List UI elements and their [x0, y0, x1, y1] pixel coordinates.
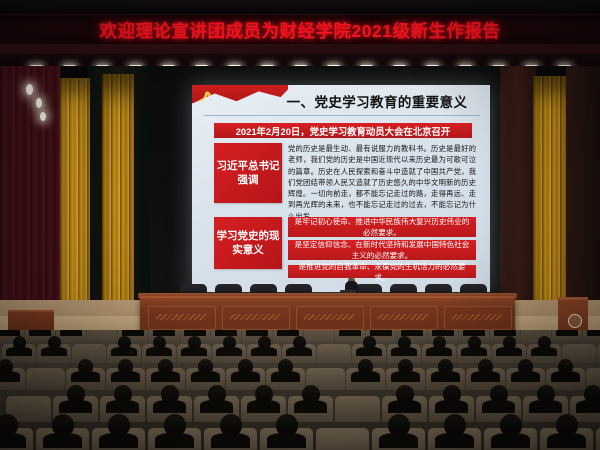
audience-member-shoulders [511, 371, 540, 382]
spotlight-icon [40, 112, 46, 121]
audience-member-shoulders [111, 371, 140, 382]
audience-seat [335, 396, 380, 422]
slide-date-bar: 2021年2月20日，党史学习教育动员大会在北京召开 [214, 123, 472, 138]
audience-member-shoulders [247, 400, 280, 413]
audience-member-shoulders [379, 433, 418, 448]
audience-member-shoulders [432, 330, 454, 336]
audience-member-shoulders [391, 347, 416, 357]
audience-member-shoulders [271, 371, 300, 382]
audience-seat [26, 368, 65, 390]
audience-member-shoulders [106, 400, 139, 413]
audience-member-shoulders [556, 330, 578, 336]
audience-member-shoulders [286, 347, 311, 357]
audience-member-shoulders [435, 433, 474, 448]
audience-member-shoulders [6, 347, 31, 357]
audience-member-shoulders [370, 330, 392, 336]
slide-title: 一、党史学习教育的重要意义 [268, 88, 486, 113]
table-carving [452, 314, 502, 320]
ceiling [0, 0, 600, 14]
led-banner: 欢迎理论宣讲团成员为财经学院2021级新生作报告 [0, 14, 600, 46]
audience-member-shoulders [191, 371, 220, 382]
table-carving [230, 314, 280, 320]
audience-member-shoulders [587, 330, 600, 336]
audience-member-shoulders [251, 347, 276, 357]
curtain-red-left [0, 66, 60, 316]
table-carving [378, 314, 428, 320]
audience-member-shoulders [356, 347, 381, 357]
wall-right [500, 66, 536, 316]
table-carving [156, 314, 206, 320]
audience-member-shoulders [60, 330, 82, 336]
audience-member-shoulders [294, 400, 327, 413]
audience-member-shoulders [461, 347, 486, 357]
wall-far-right [566, 66, 600, 316]
audience-seat [596, 428, 600, 450]
audience-member-shoulders [494, 330, 516, 336]
audience-member-shoulders [471, 371, 500, 382]
led-banner-text: 欢迎理论宣讲团成员为财经学院2021级新生作报告 [100, 18, 501, 43]
curtain-gold-left [60, 78, 90, 316]
curtain-gold-middle [102, 74, 134, 316]
audience-member-shoulders [146, 347, 171, 357]
audience-seat [316, 428, 369, 450]
audience-member-shoulders [351, 371, 380, 382]
audience-member-shoulders [388, 400, 421, 413]
curtain-gold-right [533, 76, 567, 316]
audience-member-shoulders [215, 330, 237, 336]
audience-member-shoulders [200, 400, 233, 413]
audience-member-shoulders [71, 371, 100, 382]
wall-sheen [0, 44, 600, 54]
audience-seat [304, 330, 334, 342]
audience-seating [0, 330, 600, 450]
audience-member-shoulders [59, 400, 92, 413]
audience-member-shoulders [0, 433, 26, 448]
audience-seat [87, 330, 117, 342]
audience-member-shoulders [339, 330, 361, 336]
table-carving [304, 314, 354, 320]
auditorium-photo: 欢迎理论宣讲团成员为财经学院2021级新生作报告 一、党史学习教育的重要意义 2… [0, 0, 600, 450]
audience-member-shoulders [547, 433, 586, 448]
audience-member-shoulders [211, 433, 250, 448]
section-bullet-1: 是牢记初心使命、推进中华民族伟大复兴历史伟业的必然要求。 [288, 217, 476, 237]
audience-member-shoulders [496, 347, 521, 357]
section-label-2: 学习党史的现实意义 [214, 217, 282, 269]
audience-member-shoulders [277, 330, 299, 336]
audience-member-shoulders [426, 347, 451, 357]
audience-seat [317, 344, 351, 363]
section-bullet-3: 是推进党的自我革命、永葆党的生机活力的必然要求。 [288, 265, 476, 278]
audience-member-shoulders [29, 330, 51, 336]
section-label-1: 习近平总书记强调 [214, 143, 282, 203]
audience-member-shoulders [482, 400, 515, 413]
audience-member-shoulders [531, 347, 556, 357]
audience-member-shoulders [155, 433, 194, 448]
audience-member-shoulders [435, 400, 468, 413]
audience-member-shoulders [551, 371, 580, 382]
podium-emblem-icon [568, 314, 582, 328]
audience-member-shoulders [153, 400, 186, 413]
audience-member-shoulders [111, 347, 136, 357]
audience-member-shoulders [41, 347, 66, 357]
audience-member-shoulders [0, 371, 20, 382]
audience-member-shoulders [216, 347, 241, 357]
title-divider [204, 115, 480, 116]
spotlight-icon [36, 98, 42, 108]
audience-member-shoulders [151, 371, 180, 382]
audience-member-shoulders [99, 433, 138, 448]
audience-member-shoulders [391, 371, 420, 382]
audience-member-shoulders [431, 371, 460, 382]
section-bullet-2: 是坚定信仰信念、在新时代坚持和发展中国特色社会主义的必然要求。 [288, 240, 476, 260]
hammer-and-sickle-icon [198, 89, 213, 103]
spotlight-icon [26, 84, 33, 95]
projection-slide: 一、党史学习教育的重要意义 2021年2月20日，党史学习教育动员大会在北京召开… [192, 85, 490, 292]
audience-member-shoulders [181, 347, 206, 357]
audience-member-shoulders [267, 433, 306, 448]
audience-member-shoulders [491, 433, 530, 448]
audience-member-shoulders [231, 371, 260, 382]
audience-member-shoulders [576, 400, 600, 413]
section-body-1: 党的历史是最生动、最有说服力的教科书。历史是最好的老师，我们党的历史是中国近现代… [288, 143, 476, 203]
audience-member-shoulders [529, 400, 562, 413]
audience-member-shoulders [43, 433, 82, 448]
